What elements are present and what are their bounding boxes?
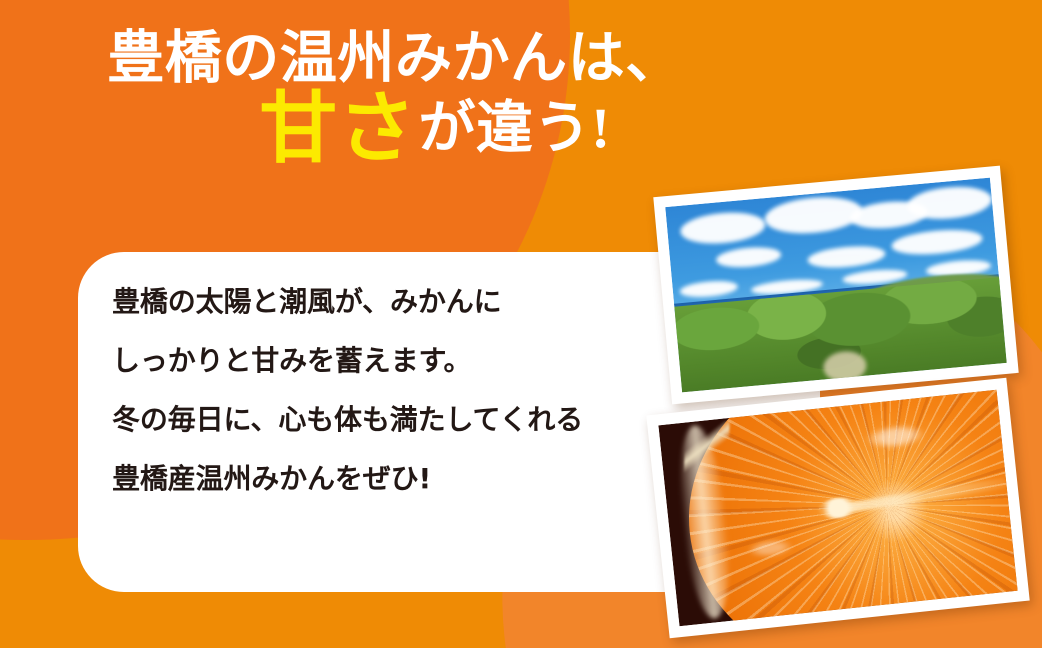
promotional-banner: 豊橋の温州みかんは、 甘さが違う! 豊橋の太陽と潮風が、みかんに しっかりと甘み… <box>0 0 1042 648</box>
body-line-4: 豊橋産温州みかんをぜひ! <box>112 465 672 493</box>
body-line-3: 冬の毎日に、心も体も満たしてくれる <box>112 406 672 434</box>
body-line-1: 豊橋の太陽と潮風が、みかんに <box>112 288 672 316</box>
body-line-2: しっかりと甘みを蓄えます。 <box>112 347 672 375</box>
coastal-landscape-photo-image <box>665 178 1007 393</box>
description-body: 豊橋の太陽と潮風が、みかんに しっかりと甘みを蓄えます。 冬の毎日に、心も体も満… <box>112 288 672 493</box>
coastal-landscape-photo <box>653 166 1018 405</box>
pith-strand <box>684 420 730 474</box>
mandarin-orange-closeup-photo <box>646 378 1029 639</box>
background-top-fill <box>0 0 520 60</box>
mandarin-orange-closeup-photo-image <box>658 390 1017 626</box>
